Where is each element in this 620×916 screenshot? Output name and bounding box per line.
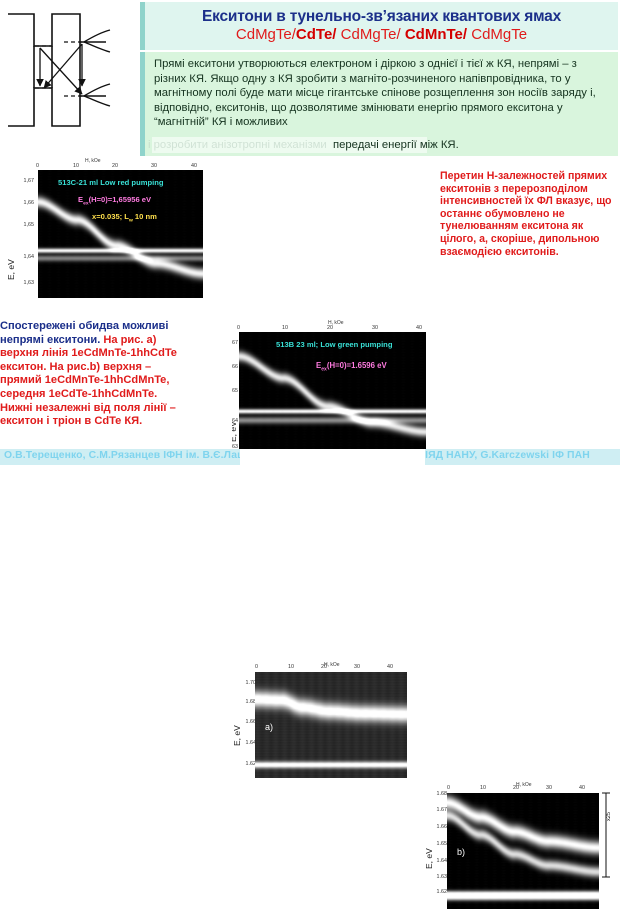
bottom-commentary-panel: Спостережені обидва можливі непрямі екси… <box>0 320 232 460</box>
right-commentary-text: Перетин Н-залежностей прямих екситонів з… <box>436 168 620 258</box>
band-diagram-figure <box>6 2 134 152</box>
chart-a-xtick-3: 30 <box>151 163 157 169</box>
chart-d-xtick-0: 0 <box>447 785 450 791</box>
bottom-note-line-6: Нижні незалежні від поля лінії – <box>0 402 232 416</box>
subtitle-part-5: CdMgTe <box>467 26 527 43</box>
chart-d-scale-bracket <box>600 791 620 881</box>
chart-a-ytick-0: 1,67 <box>16 178 34 184</box>
chart-b-xtick-3: 30 <box>372 325 378 331</box>
chart-c-xtick-3: 30 <box>354 664 360 670</box>
intro-last-line: і розробити анізотропні механізми переда… <box>148 138 618 153</box>
bottom-note-line-1a: непрямі екситони. <box>0 334 103 346</box>
chart-a-ytick-4: 1,63 <box>16 280 34 286</box>
chart-d-ytick-4: 1.64 <box>427 858 447 864</box>
chart-b-xtick-0: 0 <box>237 325 240 331</box>
bottom-note-line-4: прямий 1eCdMnTe-1hhCdMnTe, <box>0 374 232 388</box>
intro-last-line-obscured: і розробити анізотропні механізми <box>148 139 327 151</box>
slide-title-panel: Екситони в тунельно-зв’язаних квантових … <box>140 2 618 50</box>
subtitle-part-1: CdMgTe/ <box>236 26 296 43</box>
chart-a-title: 513C-21 ml Low red pumping <box>58 178 164 187</box>
chart-d-bracket-label: x25 <box>606 812 612 821</box>
chart-c-panel-label: a) <box>265 722 273 732</box>
chart-c-ytick-3: 1.64 <box>236 740 256 746</box>
bottom-note-line-0: Спостережені обидва можливі <box>0 320 232 334</box>
chart-panel-b-bottom: H, kOe E, eV 1.68 1.67 1.66 1.65 1.64 1.… <box>424 781 620 916</box>
chart-b-xtick-2: 20 <box>327 325 333 331</box>
chart-c-ytick-0: 1.70 <box>236 680 256 686</box>
bottom-note-line-1: непрямі екситони. На рис. a) <box>0 334 232 348</box>
chart-a-xtick-1: 10 <box>73 163 79 169</box>
chart-d-xtick-2: 20 <box>513 785 519 791</box>
material-stack-subtitle: CdMgTe/CdTe/ CdMgTe/ CdMnTe/ CdMgTe <box>236 26 527 44</box>
chart-c-plot-area <box>255 672 407 778</box>
chart-d-ytick-6: 1.62 <box>427 889 447 895</box>
chart-a-annotation-energy: Eex(H=0)=1,65956 eV <box>78 195 151 207</box>
subtitle-part-2: CdTe/ <box>296 26 337 43</box>
chart-b-xtick-4: 40 <box>416 325 422 331</box>
chart-a-xtick-0: 0 <box>36 163 39 169</box>
chart-c-ytick-4: 1.62 <box>236 761 256 767</box>
chart-panel-a-bottom: H, kOe E, eV 1.70 1.68 1.66 1.64 1.62 0 … <box>232 650 427 785</box>
chart-c-xtick-1: 10 <box>288 664 294 670</box>
chart-c-heatmap <box>255 672 407 778</box>
chart-a-ytick-3: 1,64 <box>16 254 34 260</box>
chart-d-panel-label: b) <box>457 847 465 857</box>
subtitle-part-4: CdMnTe/ <box>405 26 467 43</box>
chart-d-xtick-1: 10 <box>480 785 486 791</box>
chart-d-xtick-3: 30 <box>546 785 552 791</box>
chart-d-heatmap <box>447 793 599 909</box>
subtitle-part-3: CdMgTe/ <box>336 26 404 43</box>
slide-canvas: Екситони в тунельно-зв’язаних квантових … <box>0 0 620 465</box>
chart-513c-21ml: H, kOe E, eV 1,67 1,66 1,65 1,64 1,63 0 … <box>0 158 232 320</box>
chart-d-ytick-1: 1.67 <box>427 807 447 813</box>
chart-d-xtick-4: 40 <box>579 785 585 791</box>
chart-b-annotation-energy: Eex(H=0)=1.6596 eV <box>316 361 387 373</box>
chart-a-ylabel: E, eV <box>6 259 16 280</box>
chart-d-ytick-3: 1.65 <box>427 841 447 847</box>
bottom-note-line-3: екситон. На рис.b) верхня – <box>0 361 232 375</box>
intro-paragraph: Прямі екситони утворюються електроном і … <box>154 57 610 130</box>
chart-d-ytick-0: 1.68 <box>427 791 447 797</box>
chart-a-xtick-2: 20 <box>112 163 118 169</box>
intro-last-line-visible: передачі енергії між КЯ. <box>333 139 459 151</box>
chart-b-heatmap <box>239 332 426 460</box>
chart-b-title: 513B 23 ml; Low green pumping <box>276 340 392 349</box>
footer-occluding-strip <box>240 449 425 465</box>
page-title: Екситони в тунельно-зв’язаних квантових … <box>202 8 561 25</box>
chart-a-xlabel: H, kOe <box>85 158 101 164</box>
chart-a-heatmap <box>38 170 203 298</box>
chart-c-xtick-2: 20 <box>321 664 327 670</box>
chart-c-xtick-0: 0 <box>255 664 258 670</box>
chart-b-plot-area <box>239 332 426 460</box>
chart-b-xtick-1: 10 <box>282 325 288 331</box>
right-commentary-panel: Перетин Н-залежностей прямих екситонів з… <box>436 168 620 320</box>
bottom-note-line-1b: На рис. a) <box>103 334 156 346</box>
chart-c-ytick-1: 1.68 <box>236 699 256 705</box>
chart-d-plot-area <box>447 793 599 909</box>
chart-d-ytick-2: 1.66 <box>427 824 447 830</box>
chart-a-ytick-1: 1,66 <box>16 200 34 206</box>
chart-a-plot-area <box>38 170 203 298</box>
bottom-note-line-2: верхня лінія 1eCdMnTe-1hhCdTe <box>0 347 232 361</box>
chart-a-ytick-2: 1,65 <box>16 222 34 228</box>
bottom-note-line-7: екситон і тріон в CdTe КЯ. <box>0 415 232 429</box>
chart-c-ytick-2: 1.66 <box>236 719 256 725</box>
chart-a-xtick-4: 40 <box>191 163 197 169</box>
band-diagram-svg <box>6 2 134 152</box>
chart-c-xtick-4: 40 <box>387 664 393 670</box>
chart-d-ytick-5: 1.63 <box>427 874 447 880</box>
chart-a-annotation-params: x=0.035; Lw 10 nm <box>92 212 157 224</box>
bottom-note-line-5: середня 1eCdTe-1hhCdMnTe. <box>0 388 232 402</box>
